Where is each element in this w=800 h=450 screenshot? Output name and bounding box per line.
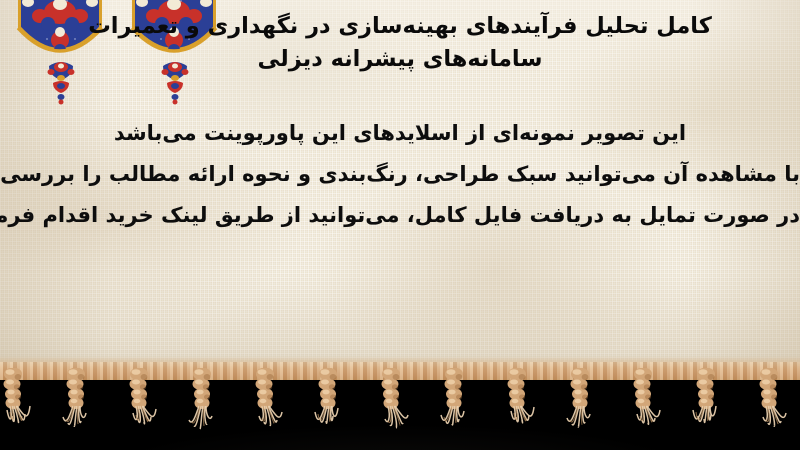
body-line-3: در صورت تمایل به دریافت فایل کامل، می‌تو… — [0, 195, 800, 236]
fringe-tassel — [620, 368, 666, 450]
fringe-tassel — [242, 368, 288, 450]
fringe-tassel — [557, 368, 603, 450]
slide-title: کامل تحلیل فرآیندهای بهینه‌سازی در نگهدا… — [0, 10, 800, 76]
fringe-tassel — [368, 368, 414, 450]
fringe-tassel — [0, 368, 36, 450]
fringe-tassel — [179, 368, 225, 450]
body-line-2: با مشاهده آن می‌توانید سبک طراحی، رنگ‌بن… — [0, 154, 800, 195]
slide-canvas: کامل تحلیل فرآیندهای بهینه‌سازی در نگهدا… — [0, 0, 800, 450]
fringe-tassel — [116, 368, 162, 450]
slide-text-area: کامل تحلیل فرآیندهای بهینه‌سازی در نگهدا… — [0, 0, 800, 378]
fringe-tassel — [53, 368, 99, 450]
fringe-tassel — [683, 368, 729, 450]
fringe-tassel — [431, 368, 477, 450]
fringe-tassel — [305, 368, 351, 450]
title-line-2: سامانه‌های پیشرانه دیزلی — [0, 43, 800, 76]
slide-body: این تصویر نمونه‌ای از اسلایدهای این پاور… — [0, 113, 800, 236]
fringe-tassel — [746, 368, 792, 450]
body-line-1: این تصویر نمونه‌ای از اسلایدهای این پاور… — [0, 113, 800, 154]
title-line-1: کامل تحلیل فرآیندهای بهینه‌سازی در نگهدا… — [0, 10, 800, 43]
fringe-tassel — [494, 368, 540, 450]
